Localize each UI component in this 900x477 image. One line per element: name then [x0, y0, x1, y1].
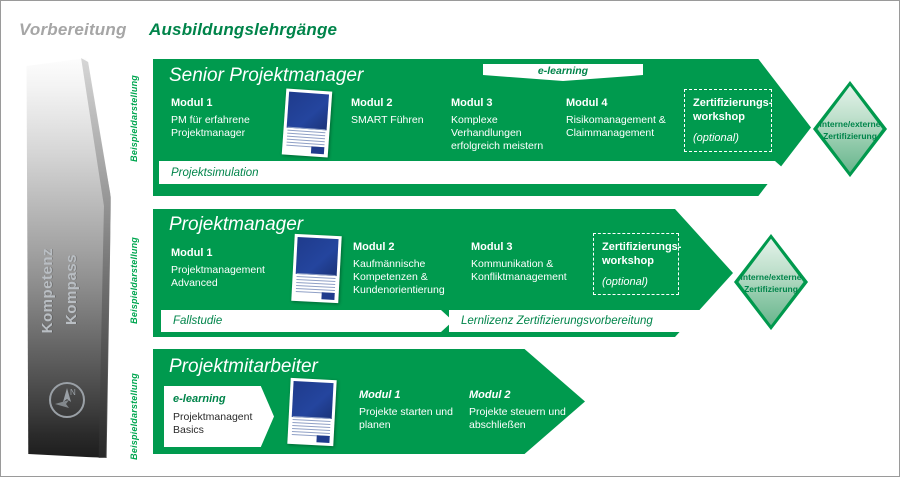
- header-ausbildungslehrgaenge: Ausbildungslehrgänge: [149, 20, 337, 40]
- track-title-mitarbeiter: Projektmitarbeiter: [169, 356, 318, 378]
- vertical-label-2: Beispieldarstellung: [129, 237, 139, 324]
- module-body: PM für erfahrene Projektmanager: [171, 114, 289, 140]
- diamond-label: interne/externe Zertifizierung: [813, 119, 887, 142]
- module-body: Projektmanagement Advanced: [171, 264, 296, 290]
- module-body: Kaufmännische Kompetenzen & Kundenorient…: [353, 258, 471, 296]
- module-heading: Modul 3: [471, 241, 589, 253]
- brochure-cover: [292, 381, 334, 419]
- module-body: Komplexe Verhandlungen erfolgreich meist…: [451, 114, 566, 152]
- track-title-senior: Senior Projektmanager: [169, 65, 363, 87]
- elearning-heading: e-learning: [173, 393, 274, 405]
- brochure-logo: [311, 146, 324, 154]
- module-heading: Modul 4: [566, 97, 684, 109]
- certification-diamond-manager: interne/externe Zertifizierung: [734, 234, 808, 330]
- svg-text:N: N: [70, 388, 76, 397]
- module-body: Projekte starten und planen: [359, 406, 464, 432]
- module-heading: Modul 1: [171, 97, 289, 109]
- bar-lernlizenz: Lernlizenz Zertifizierungsvorbereitung: [449, 310, 715, 332]
- certification-diamond-senior: interne/externe Zertifizierung: [813, 81, 887, 177]
- compass-rose-icon: N: [47, 380, 87, 420]
- header-vorbereitung: Vorbereitung: [19, 20, 127, 40]
- module-block-manager-2: Modul 2 Kaufmännische Kompetenzen & Kund…: [353, 241, 471, 296]
- track-title-manager: Projektmanager: [169, 214, 303, 236]
- module-body: Risikomanagement & Claimmanagement: [566, 114, 684, 140]
- kompetenz-kompass-slab: Kompetenz Kompass N: [23, 58, 111, 458]
- bar-fallstudie: Fallstudie: [161, 310, 453, 332]
- module-block-mitarbeiter-1: Modul 1 Projekte starten und planen: [359, 389, 464, 432]
- brochure-cover: [287, 92, 329, 131]
- module-block-senior-3: Modul 3 Komplexe Verhandlungen erfolgrei…: [451, 97, 566, 152]
- brochure-logo: [321, 292, 334, 300]
- module-block-manager-1: Modul 1 Projektmanagement Advanced: [171, 247, 296, 290]
- module-body: Kommunikation & Konfliktmanagement: [471, 258, 589, 284]
- diamond-label: interne/externe Zertifizierung: [734, 272, 808, 295]
- elearning-block-basics: e-learning Projektmanagent Basics: [164, 386, 274, 447]
- bar-label: Lernlizenz Zertifizierungsvorbereitung: [449, 315, 653, 327]
- brochure-cover: [296, 237, 339, 276]
- vertical-label-3: Beispieldarstellung: [129, 373, 139, 460]
- bar-label: Projektsimulation: [159, 167, 259, 179]
- module-body: Projekte steuern und abschließen: [469, 406, 579, 432]
- module-heading: Modul 2: [469, 389, 579, 401]
- cert-optional-note: (optional): [602, 276, 670, 288]
- brochure-thumbnail-manager: [291, 234, 341, 303]
- cert-heading: Zertifizierungs- workshop: [602, 241, 670, 269]
- certification-workshop-box-manager: Zertifizierungs- workshop (optional): [593, 233, 679, 295]
- cert-heading: Zertifizierungs- workshop: [693, 97, 763, 125]
- brochure-logo: [316, 435, 329, 443]
- module-heading: Modul 2: [353, 241, 471, 253]
- brochure-thumbnail-mitarbeiter: [287, 378, 336, 446]
- bar-label: Fallstudie: [161, 315, 222, 327]
- diagram-canvas: Vorbereitung Ausbildungslehrgänge Kompet…: [0, 0, 900, 477]
- brochure-thumbnail-senior: [282, 88, 332, 157]
- kompetenz-word: Kompetenz: [39, 248, 56, 333]
- bar-projektsimulation: Projektsimulation: [159, 161, 788, 184]
- vertical-label-1: Beispieldarstellung: [129, 75, 139, 162]
- module-block-senior-4: Modul 4 Risikomanagement & Claimmanageme…: [566, 97, 684, 140]
- module-block-manager-3: Modul 3 Kommunikation & Konfliktmanageme…: [471, 241, 589, 284]
- module-heading: Modul 3: [451, 97, 566, 109]
- certification-workshop-box-senior: Zertifizierungs- workshop (optional): [684, 89, 772, 152]
- cert-optional-note: (optional): [693, 132, 763, 144]
- module-heading: Modul 1: [171, 247, 296, 259]
- module-block-senior-1: Modul 1 PM für erfahrene Projektmanager: [171, 97, 289, 140]
- kompass-word: Kompass: [63, 254, 80, 325]
- module-block-mitarbeiter-2: Modul 2 Projekte steuern und abschließen: [469, 389, 579, 432]
- module-heading: Modul 1: [359, 389, 464, 401]
- elearning-body: Projektmanagent Basics: [173, 411, 274, 437]
